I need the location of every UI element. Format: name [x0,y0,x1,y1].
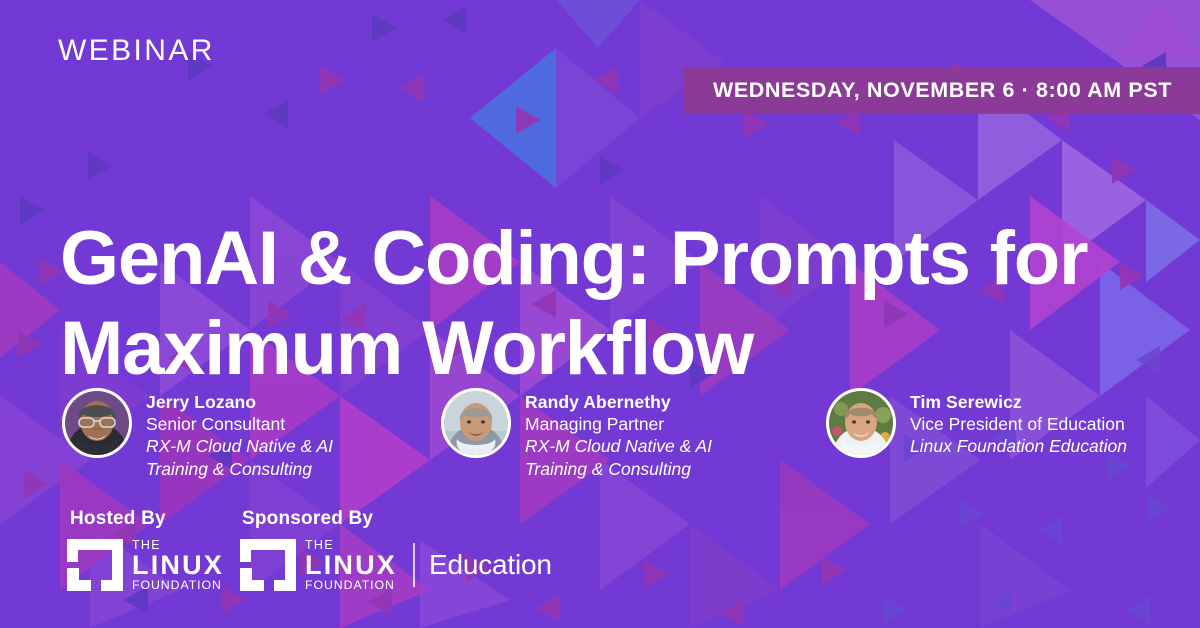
speaker-card: Randy Abernethy Managing Partner RX-M Cl… [441,386,712,480]
webinar-promo-poster: WEBINAR WEDNESDAY, NOVEMBER 6 · 8:00 AM … [0,0,1200,628]
speaker-card: Tim Serewicz Vice President of Education… [826,386,1127,458]
speaker-photo-randy-abernethy [444,391,508,455]
sponsored-linux-foundation-education-logo: THE LINUX FOUNDATION Education [240,539,552,592]
avatar [441,388,511,458]
avatar [826,388,896,458]
speaker-photo-jerry-lozano [65,391,129,455]
speaker-card: Jerry Lozano Senior Consultant RX-M Clou… [62,386,333,480]
logo-sub-brand-text: Education [429,549,552,581]
page-title: GenAI & Coding: Prompts for Maximum Work… [60,214,1150,393]
speaker-org-line-2: Training & Consulting [525,458,712,480]
hosted-linux-foundation-logo: THE LINUX FOUNDATION [67,539,224,592]
speaker-org-line-1: RX-M Cloud Native & AI [146,435,333,457]
hosted-by-label: Hosted By [70,508,166,530]
sponsored-by-label: Sponsored By [242,508,373,530]
speaker-info: Randy Abernethy Managing Partner RX-M Cl… [525,386,712,480]
speaker-role: Managing Partner [525,413,712,435]
speaker-org-line-1: Linux Foundation Education [910,435,1127,457]
speaker-name: Jerry Lozano [146,391,333,413]
date-time-banner: WEDNESDAY, NOVEMBER 6 · 8:00 AM PST [683,67,1200,114]
speaker-role: Senior Consultant [146,413,333,435]
speaker-org-line-2: Training & Consulting [146,458,333,480]
speaker-photo-tim-serewicz [829,391,893,455]
logo-linux-text: LINUX [132,553,224,578]
speaker-info: Tim Serewicz Vice President of Education… [910,386,1127,458]
linux-foundation-wordmark: THE LINUX FOUNDATION [305,539,397,592]
speaker-org-line-1: RX-M Cloud Native & AI [525,435,712,457]
linux-foundation-mark-icon [67,539,123,591]
logo-divider [413,543,415,587]
logo-foundation-text: FOUNDATION [132,579,224,591]
linux-foundation-wordmark: THE LINUX FOUNDATION [132,539,224,592]
speaker-name: Randy Abernethy [525,391,712,413]
linux-foundation-mark-icon [240,539,296,591]
avatar [62,388,132,458]
logo-foundation-text: FOUNDATION [305,579,397,591]
speaker-info: Jerry Lozano Senior Consultant RX-M Clou… [146,386,333,480]
logo-linux-text: LINUX [305,553,397,578]
eyebrow-label: WEBINAR [58,36,215,66]
speaker-role: Vice President of Education [910,413,1127,435]
speaker-name: Tim Serewicz [910,391,1127,413]
speakers-row: Jerry Lozano Senior Consultant RX-M Clou… [0,386,1200,496]
